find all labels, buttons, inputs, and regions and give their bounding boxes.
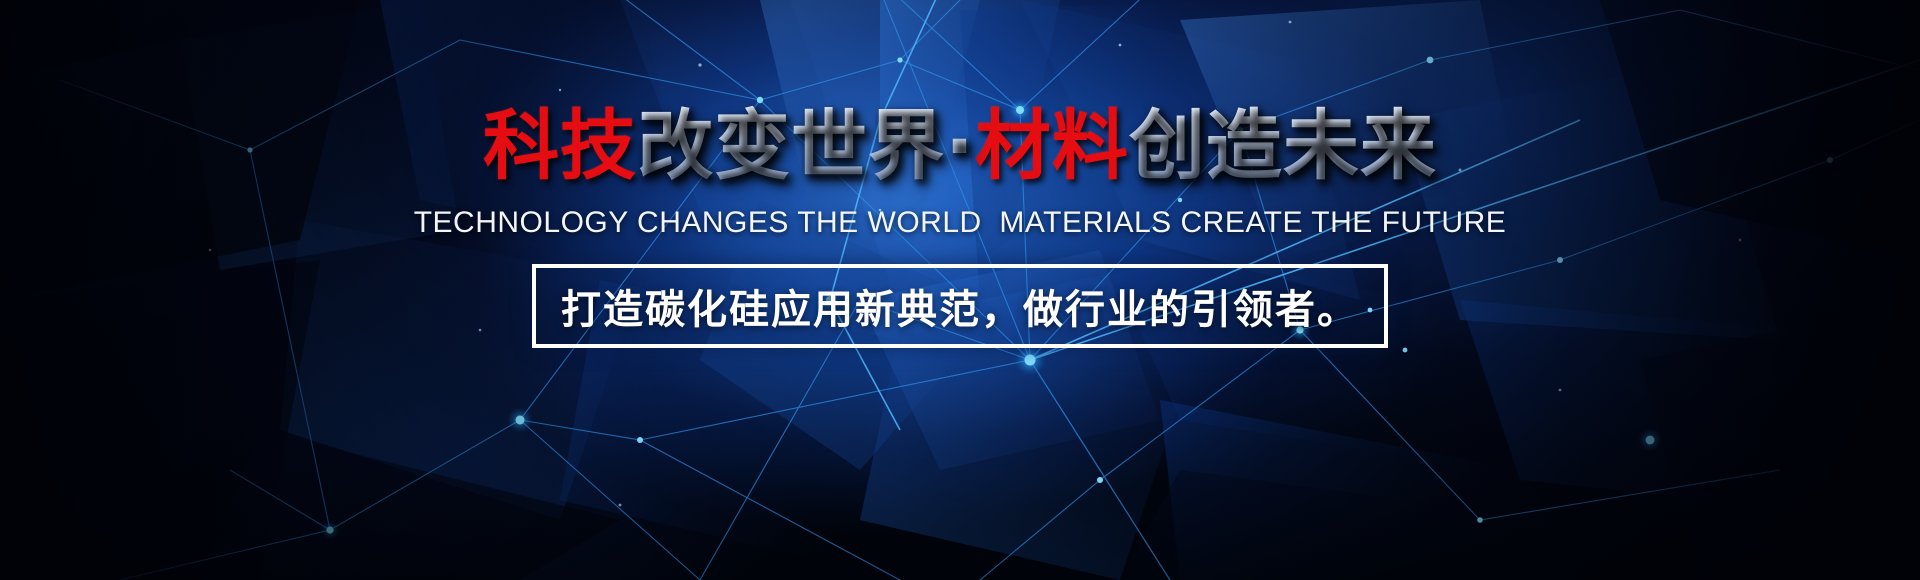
banner-content: 科技改变世界·材料创造未来 TECHNOLOGY CHANGES THE WOR… <box>0 0 1920 580</box>
slogan-text: 打造碳化硅应用新典范，做行业的引领者。 <box>561 277 1359 335</box>
page-subtitle: TECHNOLOGY CHANGES THE WORLD MATERIALS C… <box>414 206 1507 240</box>
slogan-box: 打造碳化硅应用新典范，做行业的引领者。 <box>532 264 1388 348</box>
headline-segment-1: 科技 <box>483 101 637 190</box>
page-title: 科技改变世界·材料创造未来 <box>483 108 1437 184</box>
hero-banner: 科技改变世界·材料创造未来 TECHNOLOGY CHANGES THE WOR… <box>0 0 1920 580</box>
headline-segment-4: 创造未来 <box>1129 101 1437 190</box>
headline-segment-3: 材料 <box>975 101 1129 190</box>
headline-segment-2: 改变世界· <box>637 101 975 190</box>
